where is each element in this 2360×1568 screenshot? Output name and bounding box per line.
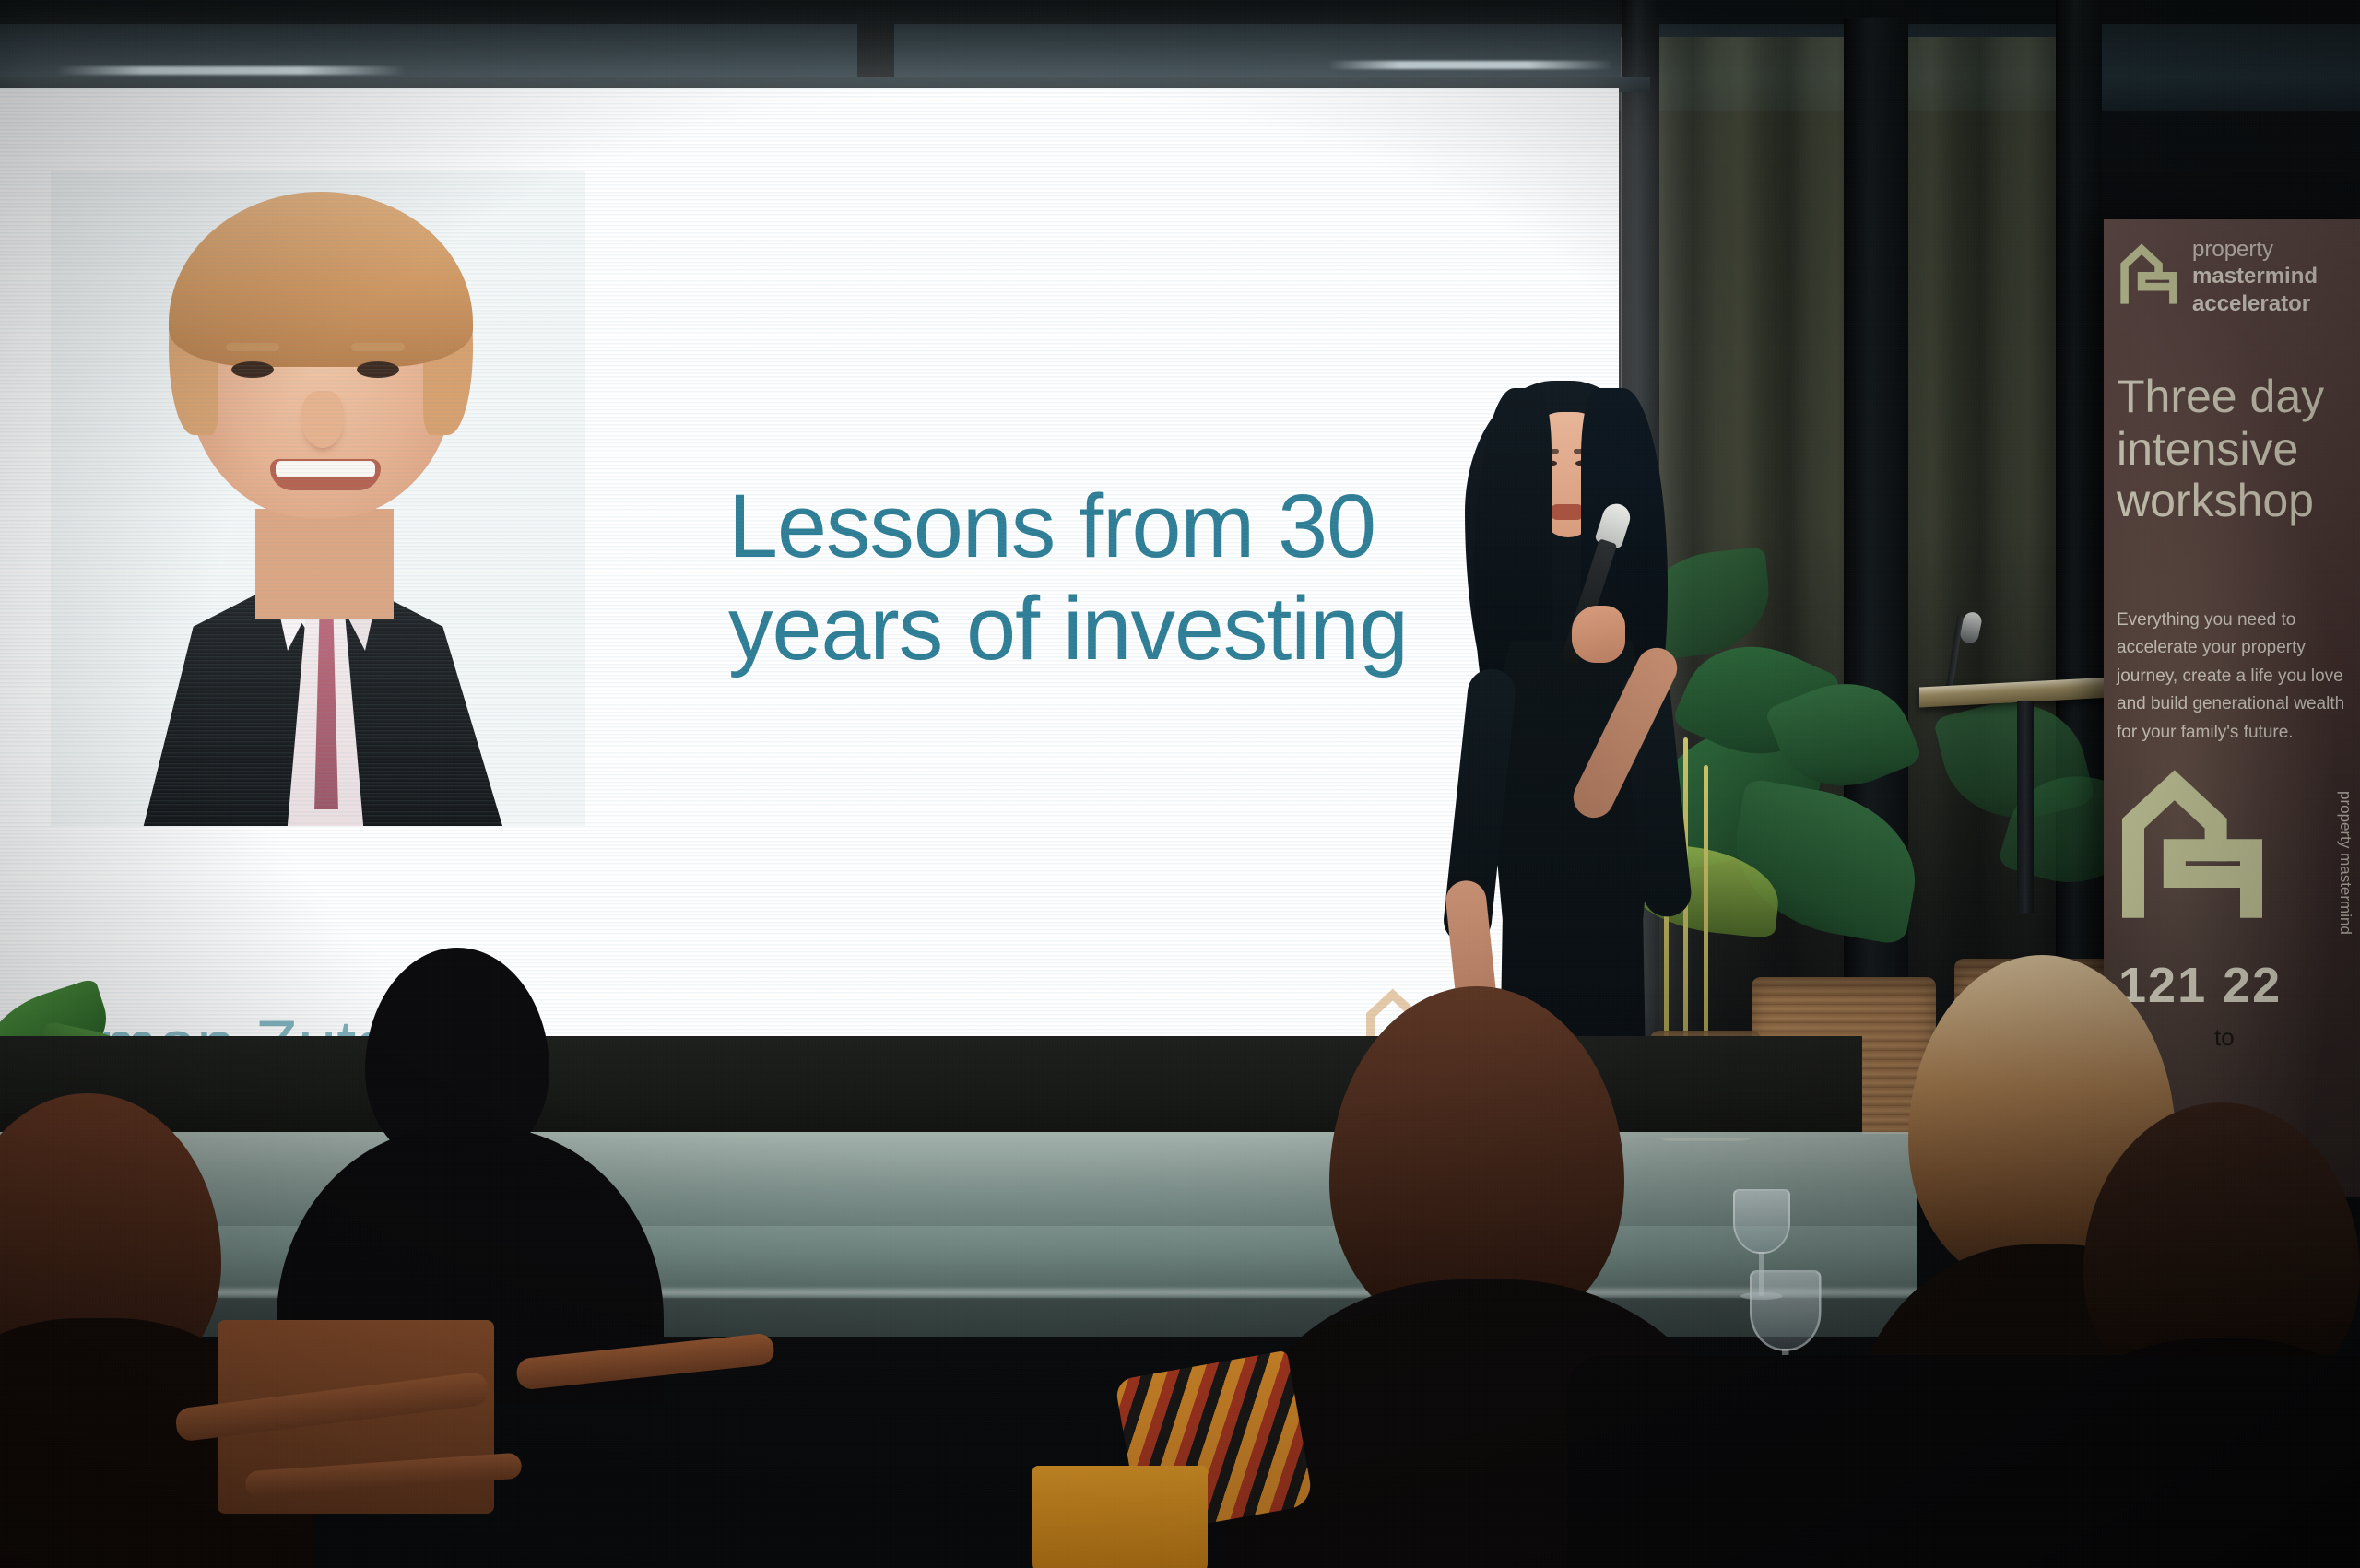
wine-glass-bowl-1 — [1733, 1189, 1790, 1254]
banner-brand-line-1: property — [2192, 236, 2360, 263]
banner-headline: Three day intensive workshop — [2117, 371, 2358, 527]
ceiling-beam-1 — [0, 0, 2360, 24]
portrait-neck — [255, 509, 394, 619]
banner-large-logo-mark — [2118, 763, 2266, 931]
slide-title-line-2: years of investing — [728, 578, 1558, 680]
portrait-eye-left — [231, 361, 274, 378]
banner-sub-text: to — [2214, 1023, 2235, 1052]
projection-screen: Lessons from 30 years of investing Simon… — [0, 88, 1619, 1038]
banner-brand-line-3: accelerator — [2192, 290, 2360, 317]
foreground-table-mass — [1567, 1355, 2360, 1568]
banner-brand-line-2: mastermind — [2192, 263, 2360, 289]
banner-numbers: 121 22 — [2118, 957, 2349, 1014]
slide-title-line-1: Lessons from 30 — [728, 476, 1558, 578]
presentation-photo-scene: Lessons from 30 years of investing Simon… — [0, 0, 2360, 1568]
banner-body-text: Everything you need to accelerate your p… — [2117, 607, 2358, 747]
yellow-bag — [1032, 1466, 1208, 1568]
banner-brand-text: property mastermind accelerator — [2192, 236, 2360, 317]
speaker-lips — [1550, 504, 1585, 520]
portrait-nose — [301, 391, 344, 448]
banner-headline-line-1: Three day — [2117, 371, 2358, 423]
structural-pillar-right — [1844, 18, 1908, 1125]
slide-portrait-photo — [51, 171, 585, 826]
wine-glass-bowl-2 — [1750, 1270, 1822, 1351]
banner-headline-line-3: workshop — [2117, 475, 2358, 527]
property-mastermind-accelerator-logo-mark — [2118, 240, 2179, 310]
ceiling-light-strip-1 — [55, 66, 406, 75]
portrait-brow-left — [226, 343, 279, 351]
slide-title: Lessons from 30 years of investing — [728, 476, 1558, 679]
lectern-post — [2017, 701, 2034, 913]
portrait-teeth — [276, 461, 375, 477]
speaker-hand-holding-mic — [1572, 606, 1625, 663]
portrait-eye-right — [357, 361, 399, 378]
portrait-brow-right — [351, 343, 405, 351]
ceiling-light-strip-2 — [1327, 61, 1613, 69]
portrait-mouth — [270, 459, 381, 490]
banner-side-text: property mastermind — [2330, 791, 2354, 935]
banner-headline-line-2: intensive — [2117, 423, 2358, 476]
